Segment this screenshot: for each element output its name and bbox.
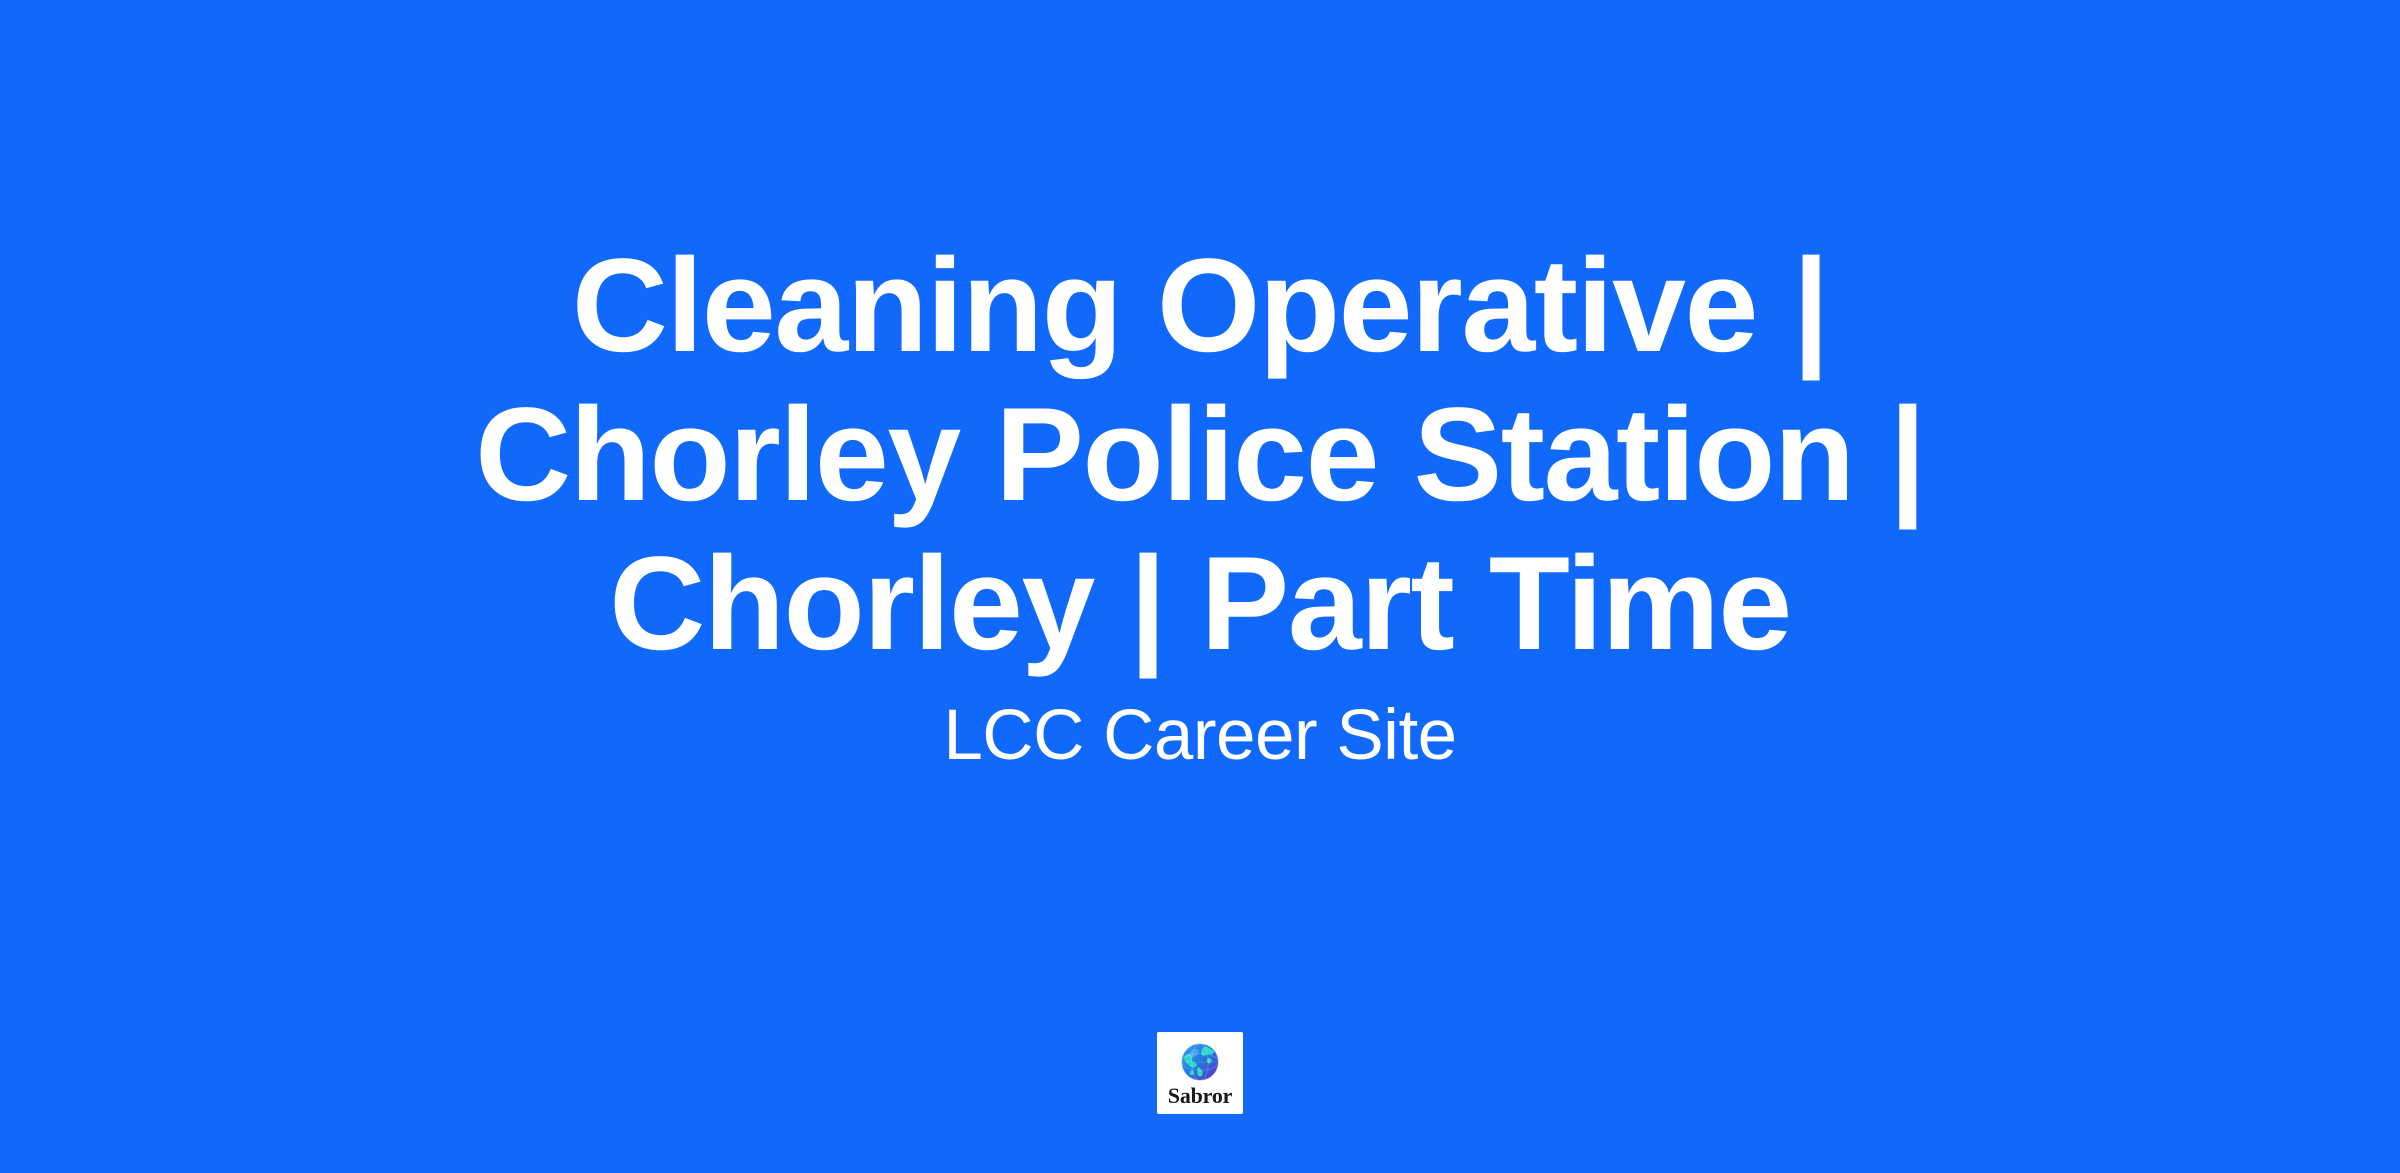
page-subtitle: LCC Career Site	[943, 693, 1456, 778]
brand-logo: Sabror	[1157, 1032, 1243, 1114]
social-share-card: Cleaning Operative | Chorley Police Stat…	[0, 0, 2400, 1173]
globe-icon	[1178, 1040, 1222, 1084]
brand-wordmark: Sabror	[1168, 1085, 1232, 1107]
page-title: Cleaning Operative | Chorley Police Stat…	[410, 232, 1990, 679]
hero-section: Cleaning Operative | Chorley Police Stat…	[0, 0, 2400, 1173]
